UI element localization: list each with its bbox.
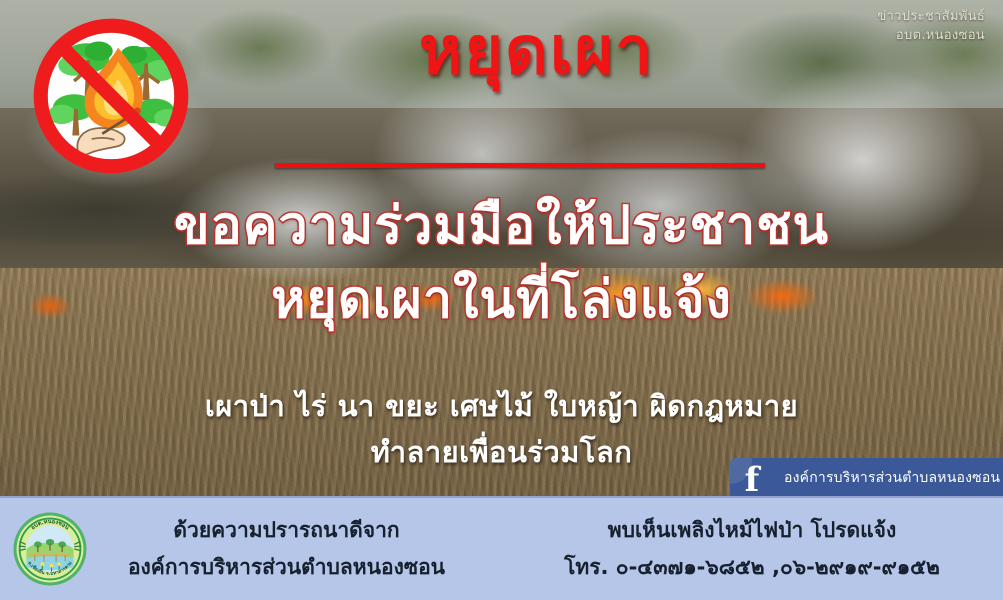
facebook-page-name[interactable]: องค์การบริหารส่วนตำบลหนองซอน — [774, 458, 1003, 498]
lead-line-1: ขอความร่วมมือให้ประชาชน — [174, 196, 829, 256]
municipality-seal-logo: อบต.หนองซอน อ.เชียงยืน จ.มหาสารคาม — [12, 511, 88, 587]
footer-left-line-2: องค์การบริหารส่วนตำบลหนองซอน — [88, 549, 485, 586]
fire-prevention-poster: ข่าวประชาสัมพันธ์ อบต.หนองซอน หยุดเผา ขอ… — [0, 0, 1003, 600]
sub-line-1: เผาป่า ไร่ นา ขยะ เศษไม้ ใบหญ้า ผิดกฎหมา… — [205, 389, 798, 423]
facebook-badge[interactable]: f องค์การบริหารส่วนตำบลหนองซอน — [730, 458, 1003, 498]
facebook-icon[interactable]: f — [730, 458, 774, 498]
footer-left-line-1: ด้วยความปรารถนาดีจาก — [173, 518, 399, 542]
seal-icon: อบต.หนองซอน อ.เชียงยืน จ.มหาสารคาม — [12, 511, 88, 587]
poster-title: หยุดเผา — [0, 16, 1003, 85]
title-divider-rule — [275, 163, 765, 168]
facebook-f-glyph: f — [745, 463, 760, 497]
footer-right-line-1: พบเห็นเพลิงไหม้ไฟป่า โปรดแจ้ง — [608, 518, 896, 542]
footer-left-block: อบต.หนองซอน อ.เชียงยืน จ.มหาสารคาม ด้วยค… — [0, 511, 501, 587]
footer-right-line-2: โทร. ๐-๔๓๗๑-๖๘๕๒ ,๐๖-๒๙๑๙-๙๑๕๒ — [501, 549, 1003, 586]
lead-line-2: หยุดเผาในที่โล่งแจ้ง — [0, 264, 1003, 338]
footer-bar: อบต.หนองซอน อ.เชียงยืน จ.มหาสารคาม ด้วยค… — [0, 496, 1003, 600]
lead-message: ขอความร่วมมือให้ประชาชน หยุดเผาในที่โล่ง… — [0, 190, 1003, 338]
footer-right-text: พบเห็นเพลิงไหม้ไฟป่า โปรดแจ้ง โทร. ๐-๔๓๗… — [501, 512, 1003, 586]
footer-left-text: ด้วยความปรารถนาดีจาก องค์การบริหารส่วนตำ… — [88, 512, 501, 586]
